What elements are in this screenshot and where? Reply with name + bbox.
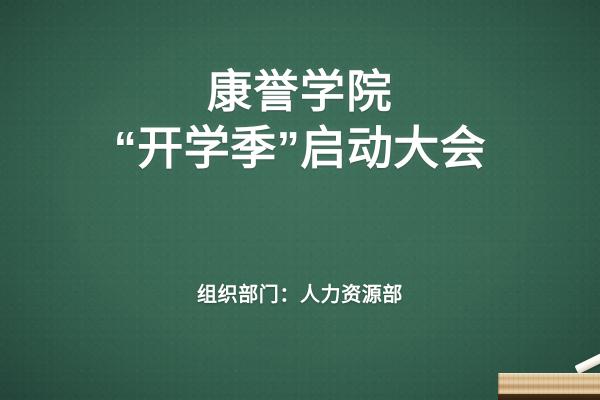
ledge-wood-grain — [498, 373, 600, 394]
slide-title: 康誉学院 “开学季”启动大会 — [0, 64, 600, 178]
wooden-chalk-ledge — [498, 373, 600, 394]
title-line-1: 康誉学院 — [0, 64, 600, 120]
title-line-2: “开学季”启动大会 — [0, 120, 600, 178]
chalkboard-title-slide: 康誉学院 “开学季”启动大会 组织部门：人力资源部 — [0, 0, 600, 400]
slide-content: 康誉学院 “开学季”启动大会 组织部门：人力资源部 — [0, 0, 600, 400]
ledge-left-edge — [498, 373, 500, 394]
slide-subtitle: 组织部门：人力资源部 — [0, 278, 600, 307]
ledge-shadow — [498, 394, 600, 400]
